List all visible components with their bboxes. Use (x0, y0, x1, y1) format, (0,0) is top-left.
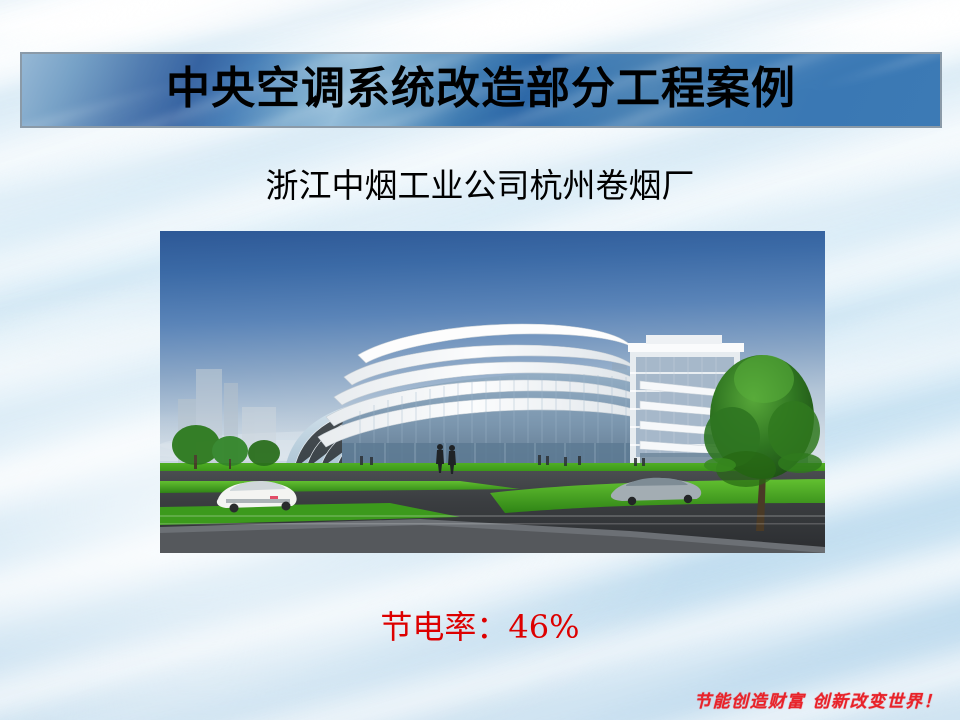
title-banner: 中央空调系统改造部分工程案例 (20, 52, 942, 128)
presentation-slide: 中央空调系统改造部分工程案例 浙江中烟工业公司杭州卷烟厂 (0, 0, 960, 720)
building-photo-artwork (160, 231, 825, 553)
building-photo (160, 231, 825, 553)
slide-subtitle: 浙江中烟工业公司杭州卷烟厂 (0, 166, 960, 206)
power-saving-rate: 节电率：46% (0, 608, 960, 646)
footer-slogan: 节能创造财富 创新改变世界！ (694, 687, 942, 712)
slide-title: 中央空调系统改造部分工程案例 (22, 54, 940, 126)
